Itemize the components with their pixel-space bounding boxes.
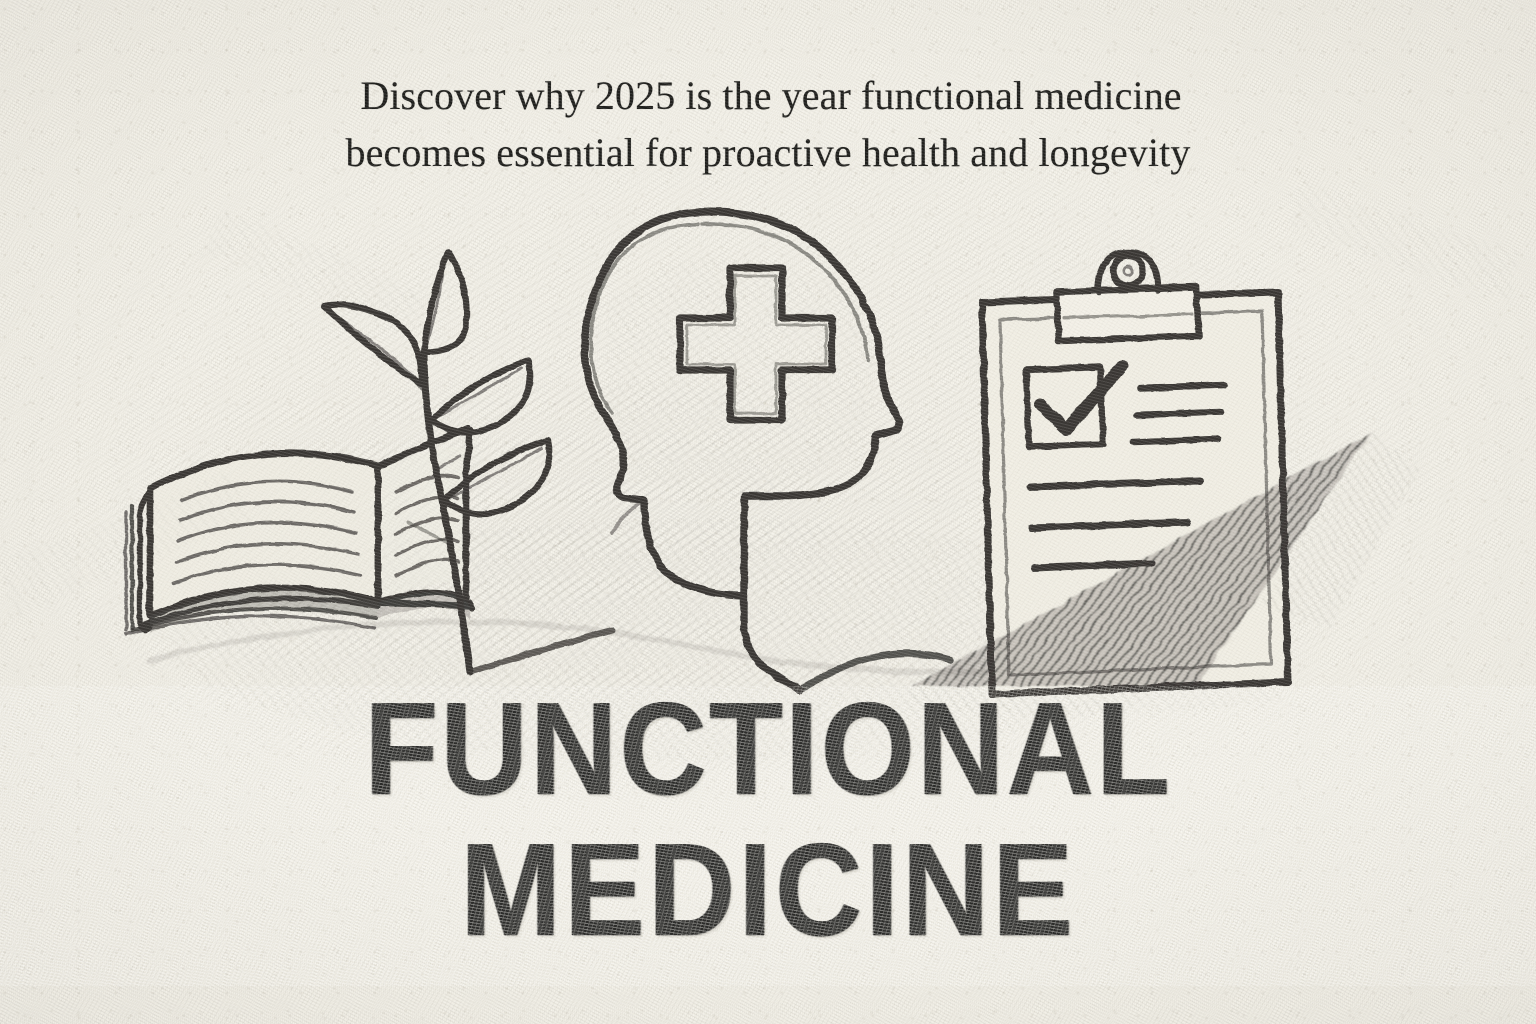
wordmark-line-medicine: MEDICINE bbox=[61, 827, 1474, 952]
wordmark-line-functional: FUNCTIONAL bbox=[61, 686, 1474, 811]
poster-canvas: Discover why 2025 is the year functional… bbox=[0, 0, 1536, 1024]
headline-line-2: becomes essential for proactive health a… bbox=[0, 125, 1536, 182]
headline: Discover why 2025 is the year functional… bbox=[0, 68, 1536, 182]
head-interior-shading bbox=[606, 257, 872, 500]
headline-line-1: Discover why 2025 is the year functional… bbox=[0, 68, 1536, 125]
wordmark: FUNCTIONAL MEDICINE bbox=[0, 686, 1536, 953]
